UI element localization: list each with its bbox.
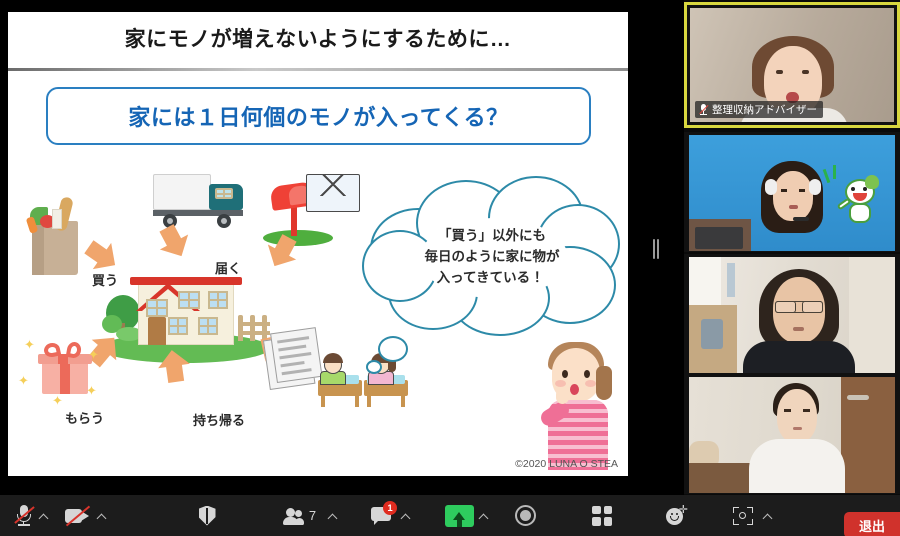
chat-icon: 1	[371, 507, 391, 524]
audio-options-chevron-icon[interactable]	[38, 511, 50, 523]
camera-muted-icon	[65, 508, 90, 524]
chat-button[interactable]: 1	[364, 499, 398, 532]
record-icon	[515, 505, 536, 526]
participants-icon	[280, 508, 304, 524]
chat-chevron-icon[interactable]	[400, 511, 412, 523]
record-button[interactable]	[508, 499, 542, 532]
video-button[interactable]	[58, 499, 96, 532]
video-feed-1: 整理収納アドバイザー	[690, 8, 894, 122]
label-bring-home: 持ち帰る	[193, 410, 245, 429]
participants-button[interactable]: 7	[272, 499, 324, 532]
thinking-woman-illustration	[538, 340, 622, 470]
video-feed-2	[689, 135, 895, 251]
thought-tail-large	[378, 336, 408, 362]
presentation-slide: 家にモノが増えないようにするために… 家には１日何個のモノが入ってくる？ 買う	[8, 12, 628, 476]
gift-box-icon	[36, 342, 92, 396]
envelope-icon	[306, 174, 360, 212]
leave-meeting-label: 退出	[859, 516, 885, 535]
name-label-1: 整理収納アドバイザー	[695, 101, 823, 118]
muted-mic-icon-1	[699, 104, 708, 116]
participant-gallery: 整理収納アドバイザー	[684, 0, 900, 495]
mute-button[interactable]	[6, 499, 40, 532]
house-icon	[100, 257, 270, 367]
chat-unread-badge: 1	[383, 501, 397, 515]
focus-mode-icon	[733, 507, 753, 525]
thought-tail-small	[366, 360, 382, 374]
breakout-rooms-icon	[592, 506, 612, 526]
thought-bubble-text: 「買う」以外にも 毎日のように家に物が 入ってきている ！	[392, 226, 592, 289]
slide-question-text: 家には１日何個のモノが入ってくる？	[128, 100, 508, 132]
label-receive: もらう	[65, 408, 104, 427]
thought-bubble: 「買う」以外にも 毎日のように家に物が 入ってきている ！	[358, 174, 626, 340]
slide-illustration: 買う 届く	[8, 152, 628, 476]
breakout-rooms-button[interactable]	[585, 499, 619, 532]
slide-title: 家にモノが増えないようにするために…	[8, 23, 628, 53]
video-tile-4[interactable]	[684, 374, 900, 494]
share-screen-button[interactable]	[442, 499, 476, 532]
mic-muted-icon	[15, 505, 32, 526]
video-tile-2[interactable]	[684, 132, 900, 252]
title-divider	[8, 68, 628, 71]
reactions-button[interactable]: ✛	[660, 499, 694, 532]
slide-title-bar: 家にモノが増えないようにするために…	[8, 12, 628, 68]
focus-chevron-icon[interactable]	[762, 511, 774, 523]
grocery-bag-icon	[26, 195, 82, 275]
participants-chevron-icon[interactable]	[327, 511, 339, 523]
video-tile-1[interactable]: 整理収納アドバイザー	[684, 2, 900, 128]
share-screen-icon	[445, 505, 474, 527]
participants-count: 7	[309, 508, 316, 523]
panel-drag-handle[interactable]	[652, 238, 660, 260]
share-chevron-icon[interactable]	[478, 511, 490, 523]
shield-icon	[199, 506, 216, 526]
security-button[interactable]	[190, 499, 224, 532]
zoom-meeting-window: 家にモノが増えないようにするために… 家には１日何個のモノが入ってくる？ 買う	[0, 0, 900, 536]
video-tile-3[interactable]	[684, 254, 900, 374]
slide-copyright: ©2020 LUNA O STEA	[515, 458, 618, 470]
video-options-chevron-icon[interactable]	[96, 511, 108, 523]
leave-meeting-button[interactable]: 退出	[844, 512, 900, 536]
video-feed-3	[689, 257, 895, 373]
meeting-toolbar: 7 1 ✛	[0, 495, 900, 536]
focus-mode-button[interactable]	[726, 499, 760, 532]
video-feed-4	[689, 377, 895, 493]
reactions-icon: ✛	[666, 506, 688, 526]
shared-screen-area[interactable]: 家にモノが増えないようにするために… 家には１日何個のモノが入ってくる？ 買う	[0, 0, 660, 495]
slide-question-box: 家には１日何個のモノが入ってくる？	[46, 87, 591, 145]
delivery-truck-icon	[153, 174, 245, 232]
